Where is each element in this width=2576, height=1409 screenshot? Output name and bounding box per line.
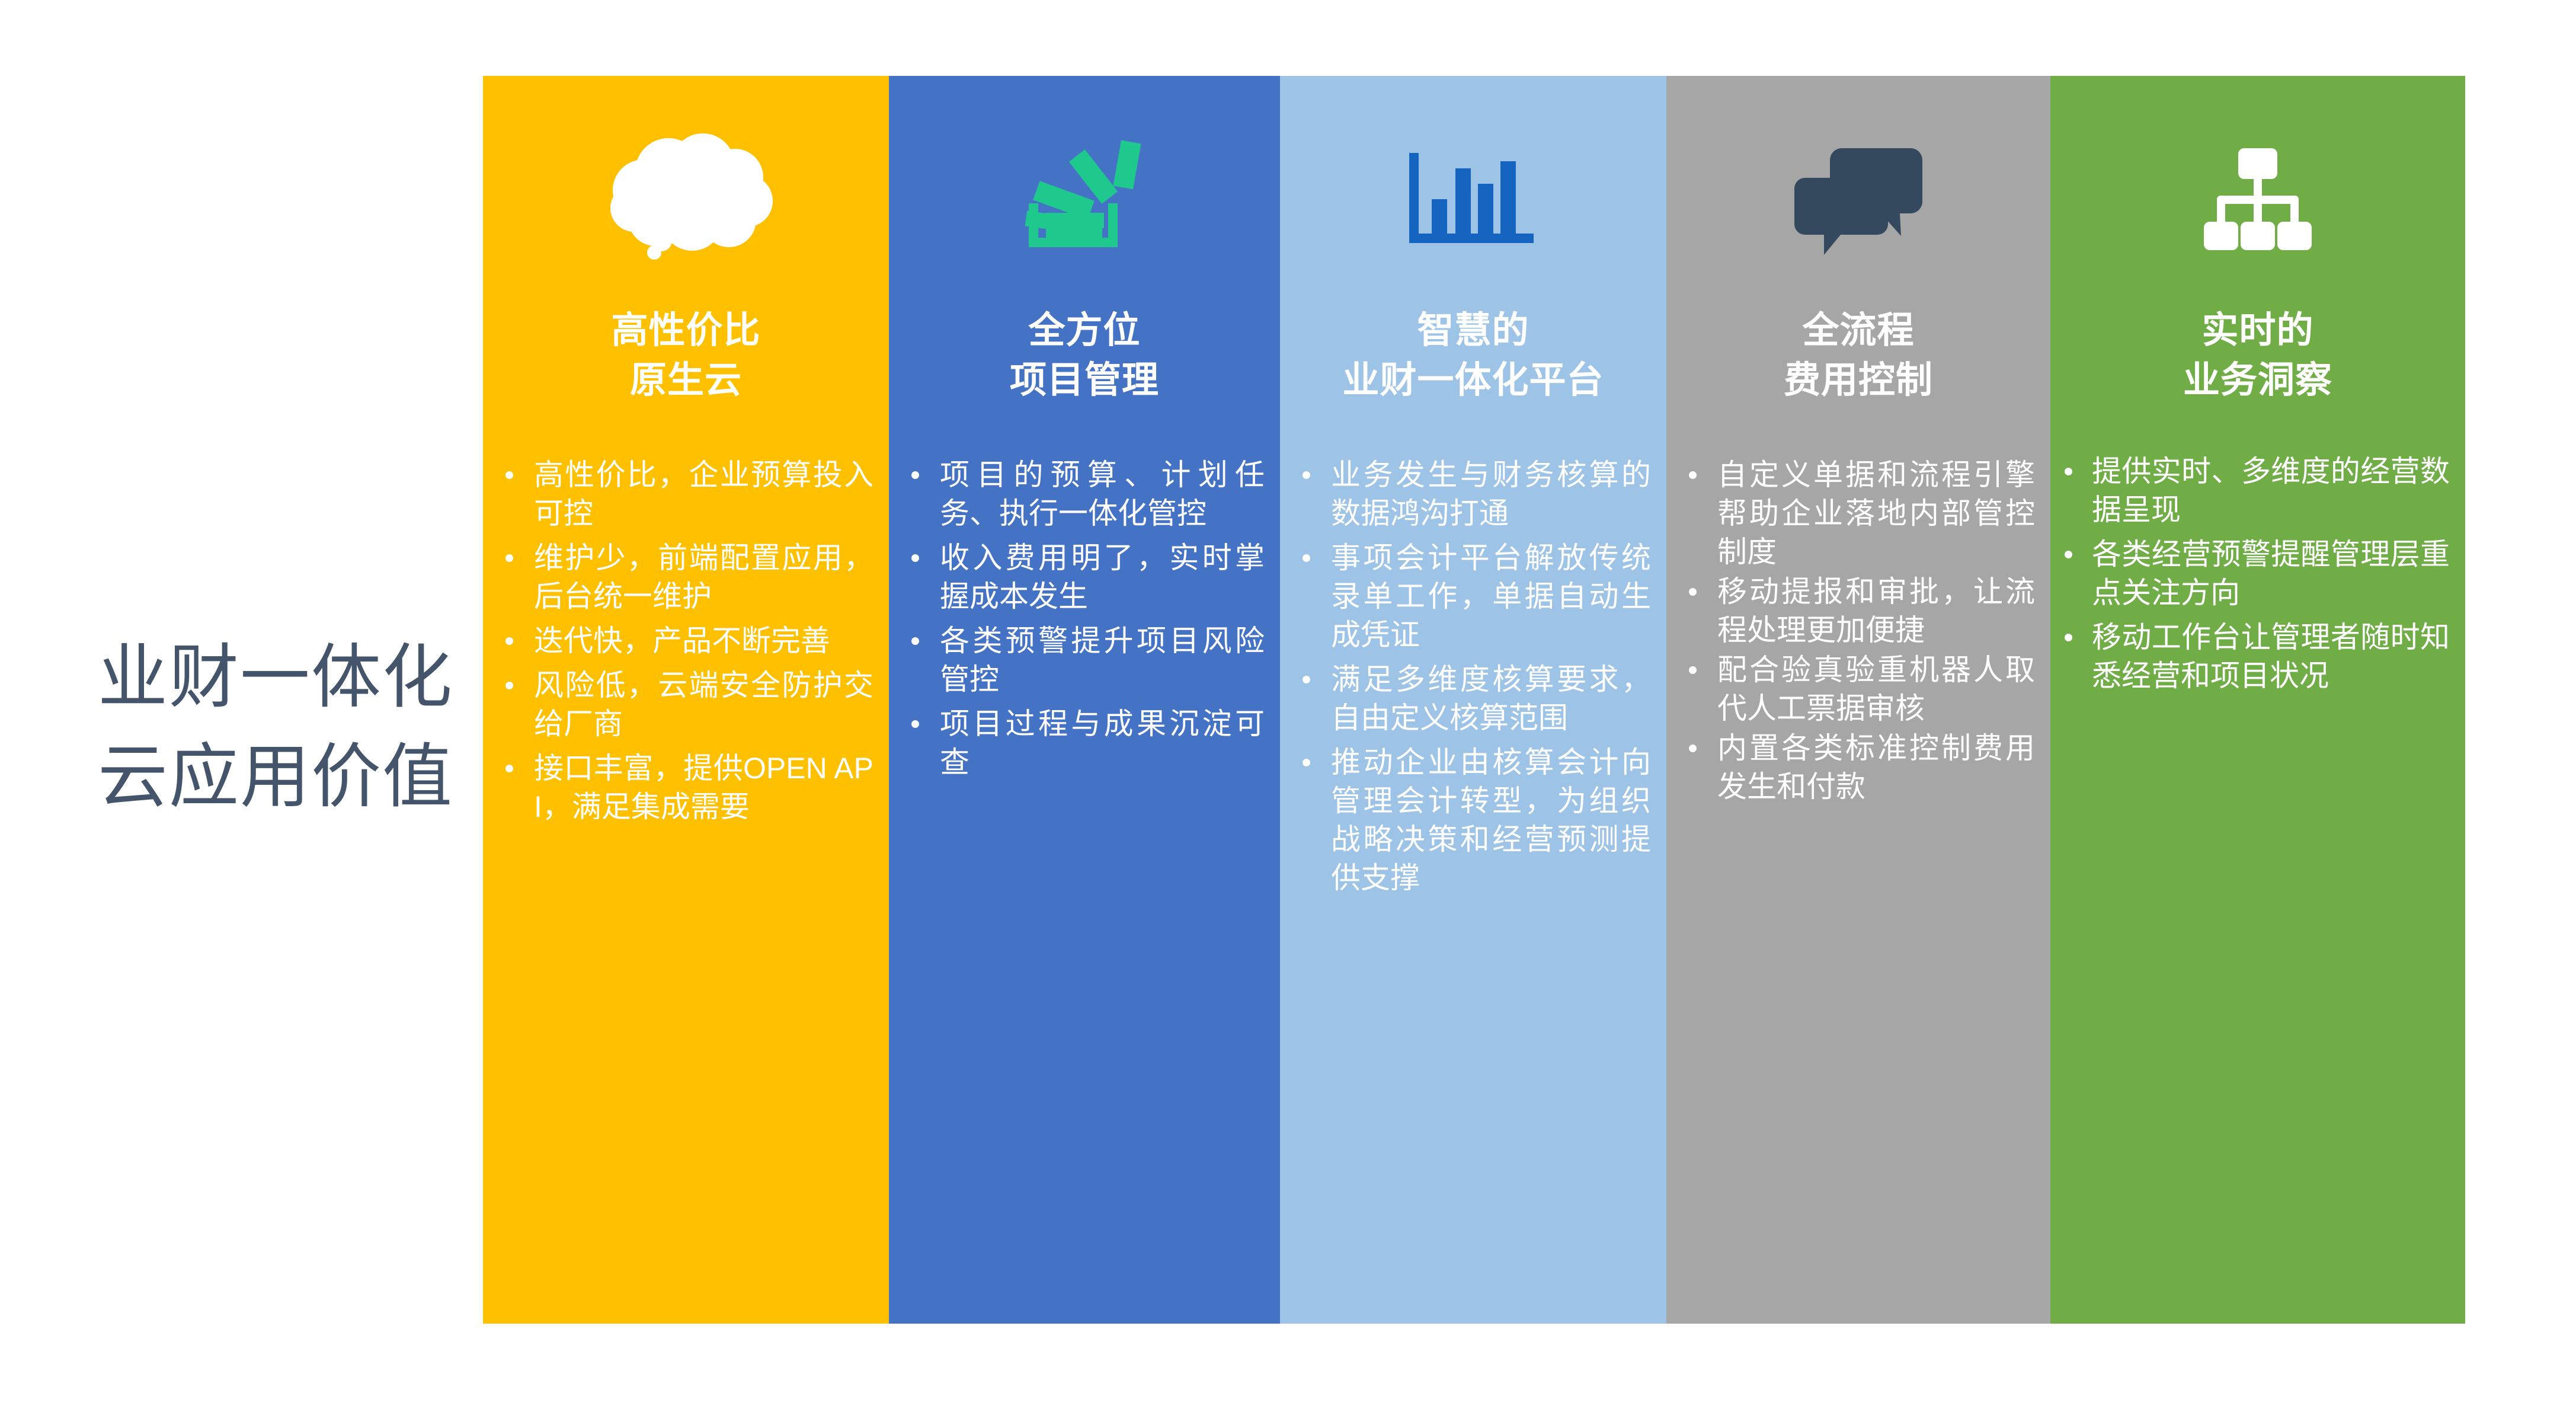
- value-columns: 高性价比 原生云 高性价比，企业预算投入可控 维护少，前端配置应用，后台统一维护…: [483, 76, 2465, 1324]
- column-title-line-2: 业财一体化平台: [1280, 356, 1666, 405]
- column-cost-performance-native-cloud[interactable]: 高性价比 原生云 高性价比，企业预算投入可控 维护少，前端配置应用，后台统一维护…: [483, 76, 889, 1324]
- cloud-icon: [483, 110, 889, 288]
- list-item: 接口丰富，提供OPEN API，满足集成需要: [494, 749, 873, 826]
- column-title-line-1: 高性价比: [483, 306, 889, 356]
- bullet-list-expense-control: 自定义单据和流程引擎帮助企业落地内部管控制度 移动提报和审批，让流程处理更加便捷…: [1666, 456, 2050, 807]
- column-title-line-2: 项目管理: [889, 356, 1280, 405]
- bullet-list-project-management: 项目的预算、计划任务、执行一体化管控 收入费用明了，实时掌握成本发生 各类预警提…: [889, 456, 1280, 788]
- list-item: 收入费用明了，实时掌握成本发生: [900, 539, 1265, 616]
- column-title-line-1: 实时的: [2050, 306, 2465, 356]
- list-item: 满足多维度核算要求，自由定义核算范围: [1291, 660, 1651, 737]
- list-item: 自定义单据和流程引擎帮助企业落地内部管控制度: [1677, 456, 2035, 571]
- column-title-smart-platform: 智慧的 业财一体化平台: [1280, 306, 1666, 406]
- list-item: 移动提报和审批，让流程处理更加便捷: [1677, 573, 2035, 650]
- page-title-line-2: 云应用价值: [71, 728, 480, 827]
- list-item: 移动工作台让管理者随时知悉经营和项目状况: [2056, 618, 2450, 695]
- list-item: 配合验真验重机器人取代人工票据审核: [1677, 651, 2035, 728]
- column-title-line-2: 费用控制: [1666, 356, 2050, 405]
- bar-chart-icon: [1280, 110, 1666, 288]
- list-item: 风险低，云端安全防护交给厂商: [494, 666, 873, 743]
- column-title-project-management: 全方位 项目管理: [889, 306, 1280, 406]
- column-title-cost-performance: 高性价比 原生云: [483, 306, 889, 406]
- list-item: 事项会计平台解放传统录单工作，单据自动生成凭证: [1291, 539, 1651, 654]
- column-title-line-1: 智慧的: [1280, 306, 1666, 356]
- column-smart-business-finance-platform[interactable]: 智慧的 业财一体化平台 业务发生与财务核算的数据鸿沟打通 事项会计平台解放传统录…: [1280, 76, 1666, 1324]
- chat-bubbles-icon: [1666, 110, 2050, 288]
- bullet-list-business-insight: 提供实时、多维度的经营数据呈现 各类经营预警提醒管理层重点关注方向 移动工作台让…: [2050, 452, 2465, 701]
- list-item: 业务发生与财务核算的数据鸿沟打通: [1291, 456, 1651, 533]
- list-item: 内置各类标准控制费用发生和付款: [1677, 729, 2035, 806]
- page-title-line-1: 业财一体化: [71, 628, 480, 728]
- list-item: 各类经营预警提醒管理层重点关注方向: [2056, 535, 2450, 612]
- list-item: 项目的预算、计划任务、执行一体化管控: [900, 456, 1265, 533]
- column-title-line-2: 原生云: [483, 356, 889, 405]
- list-item: 高性价比，企业预算投入可控: [494, 456, 873, 533]
- list-item: 各类预警提升项目风险管控: [900, 622, 1265, 699]
- list-item: 推动企业由核算会计向管理会计转型，为组织战略决策和经营预测提供支撑: [1291, 743, 1651, 897]
- bullet-list-cost-performance: 高性价比，企业预算投入可控 维护少，前端配置应用，后台统一维护 迭代快，产品不断…: [483, 456, 889, 832]
- org-chart-icon: [2050, 110, 2465, 288]
- page-title: 业财一体化 云应用价值: [71, 628, 480, 827]
- list-item: 迭代快，产品不断完善: [494, 622, 873, 660]
- slide-canvas: 业财一体化 云应用价值: [0, 0, 2576, 1409]
- column-title-line-1: 全方位: [889, 306, 1280, 356]
- list-item: 项目过程与成果沉淀可查: [900, 705, 1265, 782]
- column-all-round-project-management[interactable]: 全方位 项目管理 项目的预算、计划任务、执行一体化管控 收入费用明了，实时掌握成…: [889, 76, 1280, 1324]
- column-title-expense-control: 全流程 费用控制: [1666, 306, 2050, 406]
- column-realtime-business-insight[interactable]: 实时的 业务洞察 提供实时、多维度的经营数据呈现 各类经营预警提醒管理层重点关注…: [2050, 76, 2465, 1324]
- column-title-business-insight: 实时的 业务洞察: [2050, 306, 2465, 406]
- column-title-line-2: 业务洞察: [2050, 356, 2465, 405]
- stacked-documents-icon: [889, 110, 1280, 288]
- column-title-line-1: 全流程: [1666, 306, 2050, 356]
- bullet-list-smart-platform: 业务发生与财务核算的数据鸿沟打通 事项会计平台解放传统录单工作，单据自动生成凭证…: [1280, 456, 1666, 903]
- list-item: 维护少，前端配置应用，后台统一维护: [494, 539, 873, 616]
- column-full-process-expense-control[interactable]: 全流程 费用控制 自定义单据和流程引擎帮助企业落地内部管控制度 移动提报和审批，…: [1666, 76, 2050, 1324]
- list-item: 提供实时、多维度的经营数据呈现: [2056, 452, 2450, 529]
